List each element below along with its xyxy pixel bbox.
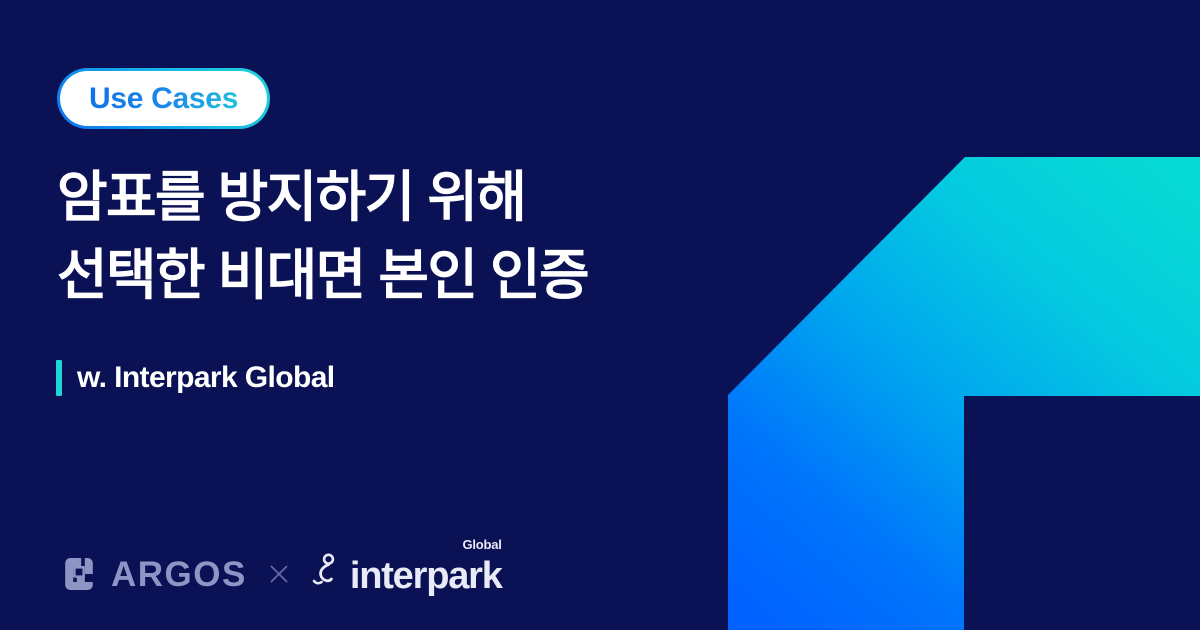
use-cases-badge[interactable]: Use Cases <box>57 68 270 129</box>
close-x-icon <box>269 564 289 584</box>
argos-logo: ARGOS <box>60 555 247 593</box>
promo-card: Use Cases 암표를 방지하기 위해 선택한 비대면 본인 인증 w. I… <box>0 0 1200 630</box>
interpark-person-icon <box>311 553 341 595</box>
subtitle: w. Interpark Global <box>56 358 335 398</box>
badge-label: Use Cases <box>89 82 238 116</box>
decor-polygon <box>728 157 1200 630</box>
badge-inner: Use Cases <box>60 71 267 126</box>
footer-logo-row: ARGOS Global interpark <box>60 545 502 603</box>
headline-line-1: 암표를 방지하기 위해 <box>57 158 757 236</box>
subtitle-text: w. Interpark Global <box>77 361 335 395</box>
argos-wordmark: ARGOS <box>111 557 247 592</box>
argos-pinwheel-icon <box>60 555 98 593</box>
interpark-wordmark: interpark <box>350 557 502 595</box>
subtitle-accent-bar <box>56 360 62 396</box>
page-title: 암표를 방지하기 위해 선택한 비대면 본인 인증 <box>57 158 757 314</box>
interpark-logo: Global interpark <box>311 553 502 595</box>
interpark-global-label: Global <box>462 538 501 551</box>
interpark-text-group: Global interpark <box>350 557 502 595</box>
headline-line-2: 선택한 비대면 본인 인증 <box>57 236 757 314</box>
